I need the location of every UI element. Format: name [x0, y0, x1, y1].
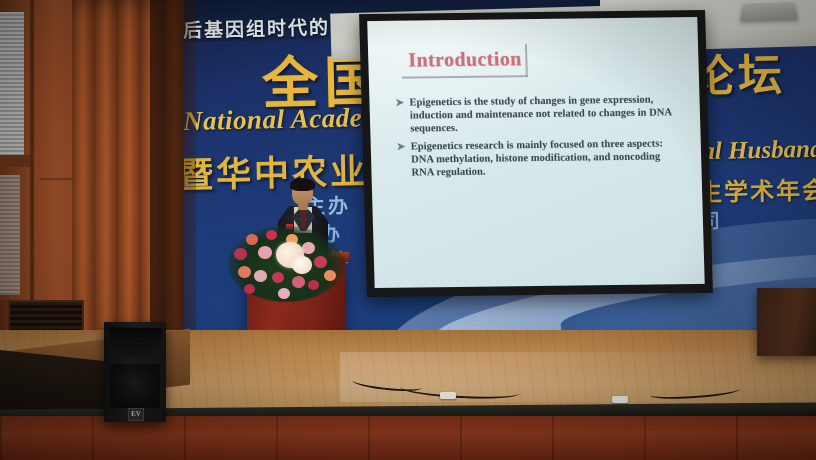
list-item: ➤ Epigenetics is the study of changes in…: [395, 93, 676, 136]
window-louver-blind: [0, 12, 24, 157]
conference-photo: 后基因组时代的动物 全国 National Academ 暨华中农业大 主办 办…: [0, 0, 816, 460]
flower-bloom: [238, 266, 251, 278]
flower-lily-small: [292, 256, 312, 274]
bullet-text: Epigenetics research is mainly focused o…: [411, 138, 663, 178]
cable-connector: [440, 392, 456, 399]
slide-title-underline: [402, 75, 528, 79]
stage-front-panel: [0, 416, 816, 460]
flower-bloom: [246, 234, 258, 245]
bullet-text: Epigenetics is the study of changes in g…: [409, 95, 671, 135]
speaker-horn: [108, 327, 162, 359]
flower-bloom: [292, 276, 305, 288]
flower-bloom: [308, 280, 319, 290]
flower-bloom: [266, 230, 277, 240]
speaker-brand-logo: EV: [128, 408, 144, 421]
flower-bloom: [272, 272, 284, 283]
slide-title-vertical-rule: [525, 44, 528, 77]
presentation-slide: Introduction ➤ Epigenetics is the study …: [367, 17, 704, 288]
flower-bloom: [278, 288, 290, 299]
list-item: ➤ Epigenetics research is mainly focused…: [397, 137, 678, 180]
presenter-hair: [290, 178, 315, 191]
flower-bloom: [234, 248, 247, 260]
window-louver-blind-lower: [0, 175, 20, 295]
flower-bloom: [314, 256, 327, 268]
flower-bloom: [254, 270, 267, 282]
slide-bullet-list: ➤ Epigenetics is the study of changes in…: [395, 93, 677, 184]
flower-bloom: [324, 270, 336, 281]
flower-arrangement: [224, 212, 348, 304]
window-frame: [0, 0, 34, 300]
bullet-arrow-icon: ➤: [395, 97, 404, 110]
banner-title-english-left: National Academ: [183, 102, 384, 137]
bullet-arrow-icon: ➤: [397, 140, 406, 153]
side-table-right: [757, 288, 816, 356]
cable-connector: [612, 396, 628, 403]
slide-title: Introduction: [408, 48, 522, 72]
pa-loudspeaker: EV: [104, 322, 166, 422]
projector-icon: [741, 2, 798, 20]
flower-bloom: [258, 246, 272, 259]
speaker-woofer: [110, 364, 160, 408]
flower-bloom: [244, 284, 255, 294]
projection-screen: Introduction ➤ Epigenetics is the study …: [359, 10, 713, 297]
window-mullion: [0, 155, 30, 167]
